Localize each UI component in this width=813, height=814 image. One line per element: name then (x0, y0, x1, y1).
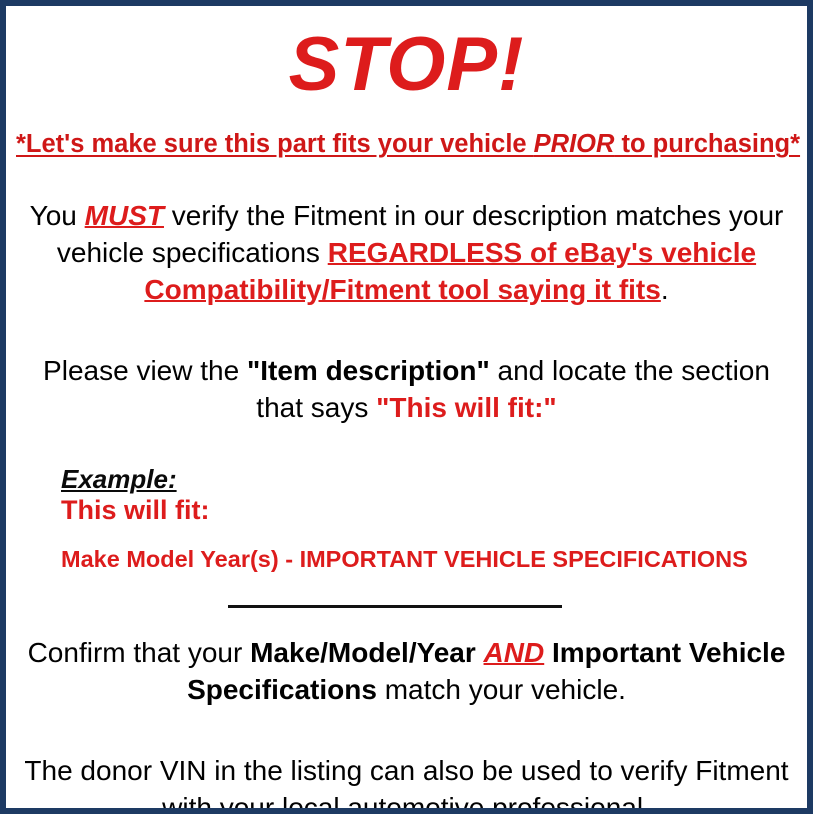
tagline-after: to purchasing* (614, 130, 800, 158)
make-model-year-emphasis: Make/Model/Year (250, 637, 476, 668)
must-verify-paragraph: You MUST verify the Fitment in our descr… (16, 198, 797, 309)
fitment-notice-card: STOP! *Let's make sure this part fits yo… (0, 0, 813, 814)
and-emphasis: AND (484, 637, 545, 668)
this-will-fit-emphasis: "This will fit:" (376, 392, 557, 423)
tagline: *Let's make sure this part fits your veh… (16, 130, 797, 159)
tagline-before: *Let's make sure this part fits your veh… (16, 130, 534, 158)
must-emphasis: MUST (85, 200, 164, 231)
example-block: Example: This will fit: Make Model Year(… (16, 465, 797, 574)
confirm-space-2 (544, 637, 552, 668)
section-divider-wrap (16, 595, 797, 605)
confirm-text-2: match your vehicle. (377, 674, 626, 705)
confirm-paragraph: Confirm that your Make/Model/Year AND Im… (16, 635, 797, 709)
tagline-prior-emphasis: PRIOR (534, 130, 615, 158)
please-text-1: Please view the (43, 355, 247, 386)
example-fit-heading: This will fit: (61, 496, 797, 526)
page-title: STOP! (16, 28, 797, 102)
donor-vin-paragraph: The donor VIN in the listing can also be… (16, 753, 797, 814)
item-description-emphasis: "Item description" (247, 355, 490, 386)
must-text-3: . (661, 274, 669, 305)
example-label-row: Example: (61, 465, 797, 494)
item-description-paragraph: Please view the "Item description" and l… (16, 353, 797, 427)
confirm-text-1: Confirm that your (28, 637, 251, 668)
example-label: Example: (61, 465, 177, 494)
notice-content: STOP! *Let's make sure this part fits yo… (6, 6, 807, 808)
section-divider (228, 605, 562, 608)
example-spec-line: Make Model Year(s) - IMPORTANT VEHICLE S… (61, 547, 797, 573)
must-text-1: You (30, 200, 85, 231)
confirm-space-1 (476, 637, 484, 668)
